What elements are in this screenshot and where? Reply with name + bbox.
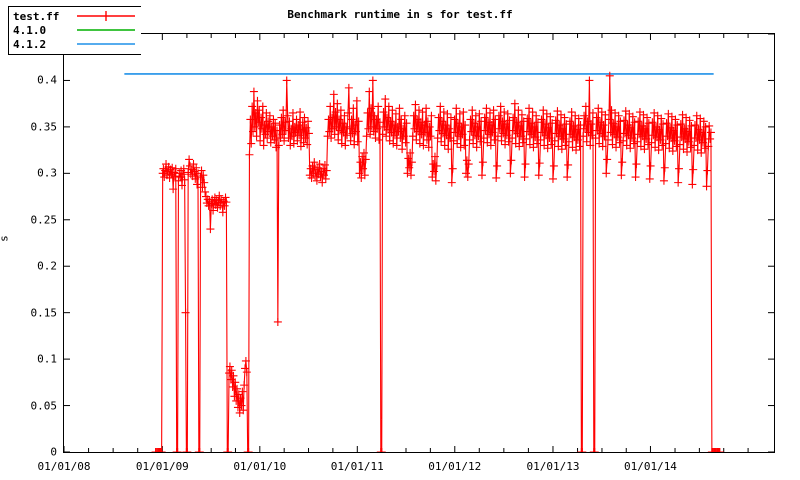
y-tick-label: 0.4 [5, 74, 57, 87]
x-tick-label: 01/01/10 [215, 460, 305, 473]
x-tick-label: 01/01/12 [410, 460, 500, 473]
legend-entry: 4.1.0 [13, 23, 137, 37]
legend-label: test.ff [13, 10, 75, 23]
x-tick-label: 01/01/11 [312, 460, 402, 473]
chart-legend: test.ff 4.1.0 4.1.2 [8, 6, 141, 55]
legend-entry: 4.1.2 [13, 37, 137, 51]
y-tick-label: 0.1 [5, 353, 57, 366]
legend-sample-test-ff [75, 10, 137, 22]
x-tick-label: 01/01/09 [117, 460, 207, 473]
y-tick-label: 0.35 [5, 120, 57, 133]
y-tick-label: 0.3 [5, 167, 57, 180]
y-tick-label: 0 [5, 446, 57, 459]
plot-area [63, 33, 775, 453]
y-tick-label: 0.25 [5, 213, 57, 226]
legend-sample-412 [75, 38, 137, 50]
y-tick-label: 0.2 [5, 260, 57, 273]
y-tick-label: 0.05 [5, 399, 57, 412]
legend-label: 4.1.2 [13, 38, 75, 51]
x-tick-label: 01/01/08 [19, 460, 109, 473]
y-tick-label: 0.15 [5, 306, 57, 319]
plot-canvas [64, 34, 774, 452]
legend-sample-410 [75, 24, 137, 36]
x-tick-label: 01/01/14 [605, 460, 695, 473]
x-tick-label: 01/01/13 [508, 460, 598, 473]
chart-page: Benchmark runtime in s for test.ff s 00.… [0, 0, 800, 480]
legend-label: 4.1.0 [13, 24, 75, 37]
legend-entry: test.ff [13, 9, 137, 23]
